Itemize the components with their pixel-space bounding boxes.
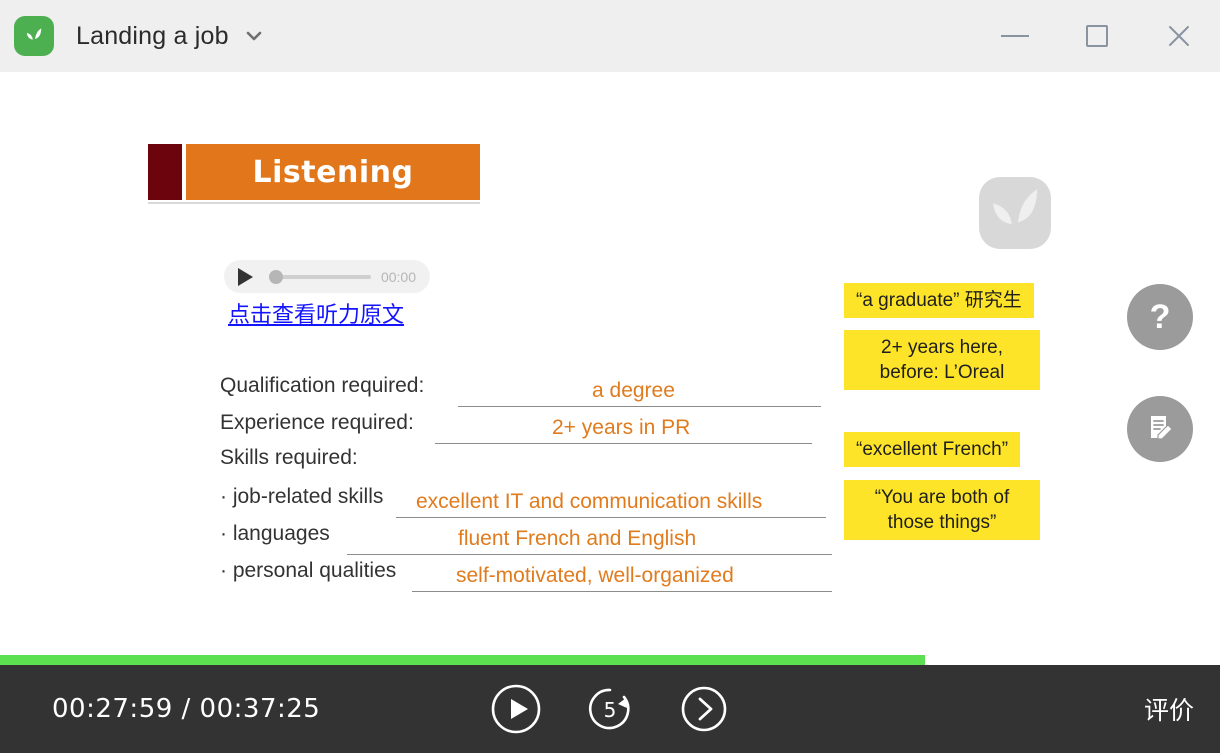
worksheet-row-experience: Experience required: 2+ years in PR <box>220 409 820 446</box>
worksheet-answer: 2+ years in PR <box>552 416 690 440</box>
answer-blank-line <box>458 406 821 407</box>
listening-banner: Listening <box>148 144 480 200</box>
chevron-down-icon[interactable] <box>243 25 265 47</box>
note-highlight: 2+ years here, before: L’Oreal <box>844 330 1040 390</box>
play-circle-icon[interactable] <box>490 683 542 735</box>
maximize-icon[interactable] <box>1056 0 1138 72</box>
worksheet-label: · languages <box>220 522 330 546</box>
help-button[interactable]: ? <box>1127 284 1193 350</box>
answer-blank-line <box>396 517 826 518</box>
banner-underline <box>148 202 480 204</box>
worksheet-row-languages: · languages fluent French and English <box>220 520 820 557</box>
progress-fill <box>0 655 925 665</box>
worksheet-answer: excellent IT and communication skills <box>416 490 762 514</box>
title-bar: Landing a job <box>0 0 1220 72</box>
worksheet-answer: self-motivated, well-organized <box>456 564 734 588</box>
lesson-progress-bar[interactable] <box>0 655 1220 665</box>
close-icon[interactable] <box>1138 0 1220 72</box>
svg-text:5: 5 <box>604 698 617 722</box>
minimize-icon[interactable] <box>974 0 1056 72</box>
question-mark-icon: ? <box>1150 300 1171 334</box>
worksheet-row-personal-qualities: · personal qualities self-motivated, wel… <box>220 557 820 594</box>
audio-time: 00:00 <box>381 269 416 285</box>
scrubber-knob[interactable] <box>269 270 283 284</box>
leaf-logo-icon <box>14 16 54 56</box>
worksheet-label: Experience required: <box>220 411 414 435</box>
scrubber-track <box>269 275 371 279</box>
leaf-watermark-icon <box>976 174 1054 252</box>
notes-button[interactable] <box>1127 396 1193 462</box>
worksheet-answer: fluent French and English <box>458 527 696 551</box>
note-edit-icon <box>1144 411 1176 448</box>
worksheet-row-qualification: Qualification required: a degree <box>220 372 820 409</box>
next-chevron-circle-icon[interactable] <box>678 683 730 735</box>
answer-blank-line <box>435 443 812 444</box>
rate-button[interactable]: 评价 <box>1144 691 1194 727</box>
playback-controls: 5 <box>490 683 730 735</box>
app-window: Landing a job Listening <box>0 0 1220 753</box>
note-highlight: “excellent French” <box>844 432 1020 467</box>
audio-scrubber[interactable] <box>269 275 371 279</box>
worksheet-label: · job-related skills <box>220 485 383 509</box>
play-icon[interactable] <box>238 268 253 286</box>
worksheet-label: Qualification required: <box>220 374 424 398</box>
answer-blank-line <box>347 554 832 555</box>
banner-accent-block <box>148 144 182 200</box>
player-bar: 00:27:59 / 00:37:25 5 <box>0 665 1220 753</box>
window-title: Landing a job <box>76 22 229 51</box>
worksheet-row-job-skills: · job-related skills excellent IT and co… <box>220 483 820 520</box>
worksheet-answer: a degree <box>592 379 675 403</box>
worksheet-label: · personal qualities <box>220 559 396 583</box>
transcript-link[interactable]: 点击查看听力原文 <box>228 297 404 329</box>
lesson-content: Listening 00:00 点击查看听力原文 <box>0 72 1220 655</box>
time-display: 00:27:59 / 00:37:25 <box>52 694 320 724</box>
answer-blank-line <box>412 591 832 592</box>
worksheet: Qualification required: a degree Experie… <box>220 372 820 594</box>
audio-player[interactable]: 00:00 <box>224 260 430 293</box>
banner-title-box: Listening <box>186 144 480 200</box>
window-controls <box>974 0 1220 72</box>
banner-label: Listening <box>253 155 414 190</box>
note-highlight: “You are both of those things” <box>844 480 1040 540</box>
replay-5-icon[interactable]: 5 <box>584 683 636 735</box>
skills-heading: Skills required: <box>220 446 820 483</box>
note-highlight: “a graduate” 研究生 <box>844 283 1034 318</box>
